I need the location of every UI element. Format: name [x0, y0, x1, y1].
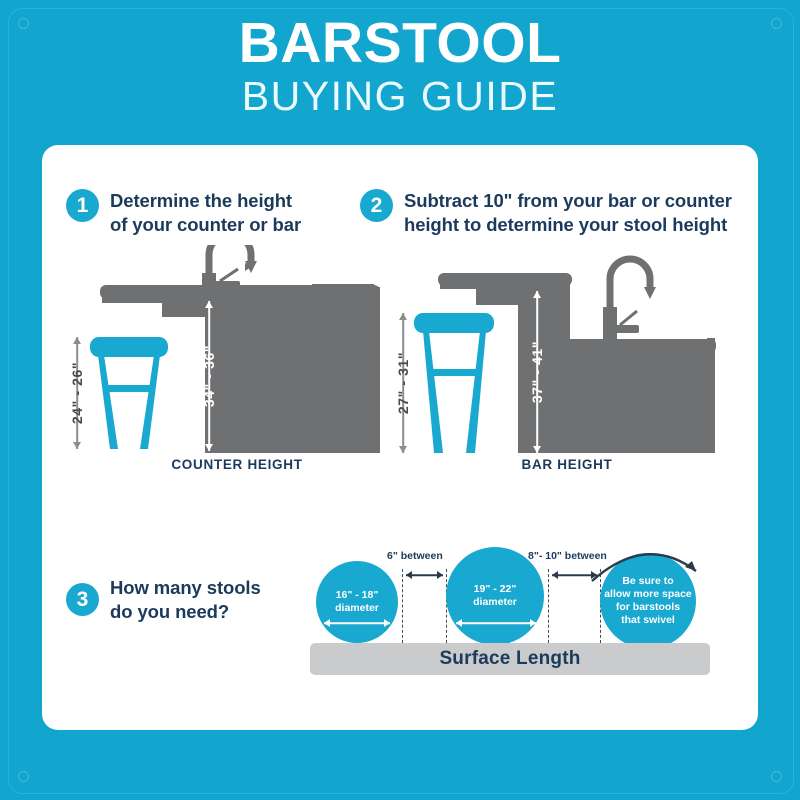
surface-length-bar: Surface Length — [310, 643, 710, 675]
counter-height-diagram: 24" - 26" 34" - 36" COUNTER HEIGHT — [62, 245, 382, 485]
step-2-label: Subtract 10" from your bar or counter he… — [404, 189, 732, 236]
step-2: 2 Subtract 10" from your bar or counter … — [360, 189, 732, 236]
stool-circle-1: 16" - 18" diameter — [316, 561, 398, 643]
bar-stool-height-dimension: 27" - 31" — [394, 313, 412, 453]
poster-subtitle: BUYING GUIDE — [0, 74, 800, 119]
surface-length-label: Surface Length — [310, 648, 710, 670]
counter-illustration — [62, 245, 382, 485]
bar-surface-height-dimension: 37" - 41" — [528, 291, 546, 453]
step-3-badge: 3 — [66, 583, 99, 616]
infographic-poster: BARSTOOL BUYING GUIDE 1 Determine the he… — [0, 0, 800, 800]
bar-stool-height-value: 27" - 31" — [395, 352, 411, 414]
step-1-label: Determine the height of your counter or … — [110, 189, 301, 236]
stool-circle-2-unit: diameter — [473, 596, 517, 609]
step-2-badge: 2 — [360, 189, 393, 222]
step-3-label: How many stools do you need? — [110, 576, 261, 623]
stool-circle-1-size: 16" - 18" — [336, 589, 379, 602]
content-card: 1 Determine the height of your counter o… — [42, 145, 758, 730]
poster-title: BARSTOOL — [0, 14, 800, 72]
poster-header: BARSTOOL BUYING GUIDE — [0, 14, 800, 119]
corner-screw-icon — [771, 771, 782, 782]
bar-surface-height-value: 37" - 41" — [529, 341, 545, 403]
bar-height-diagram: 27" - 31" 37" - 41" BAR HEIGHT — [392, 245, 722, 485]
bar-height-caption: BAR HEIGHT — [452, 457, 682, 472]
stool-spacing-diagram: 16" - 18" diameter 6" between 19" - 22" … — [310, 531, 710, 671]
counter-surface-height-dimension: 34" - 36" — [200, 301, 218, 451]
counter-height-caption: COUNTER HEIGHT — [122, 457, 352, 472]
stool-circle-1-unit: diameter — [335, 602, 379, 615]
swivel-arrow-icon — [588, 537, 708, 589]
step-3: 3 How many stools do you need? — [66, 576, 261, 623]
gap-1-label: 6" between — [387, 550, 443, 562]
gap-2-guide-left — [548, 569, 549, 643]
corner-screw-icon — [18, 771, 29, 782]
step-1-badge: 1 — [66, 189, 99, 222]
step-1: 1 Determine the height of your counter o… — [66, 189, 301, 236]
bar-illustration — [392, 245, 722, 485]
gap-1-guide-left — [402, 569, 403, 643]
counter-stool-height-dimension: 24" - 26" — [68, 337, 86, 449]
stool-circle-2-size: 19" - 22" — [474, 583, 517, 596]
counter-stool-height-value: 24" - 26" — [69, 362, 85, 424]
counter-surface-height-value: 34" - 36" — [201, 345, 217, 407]
